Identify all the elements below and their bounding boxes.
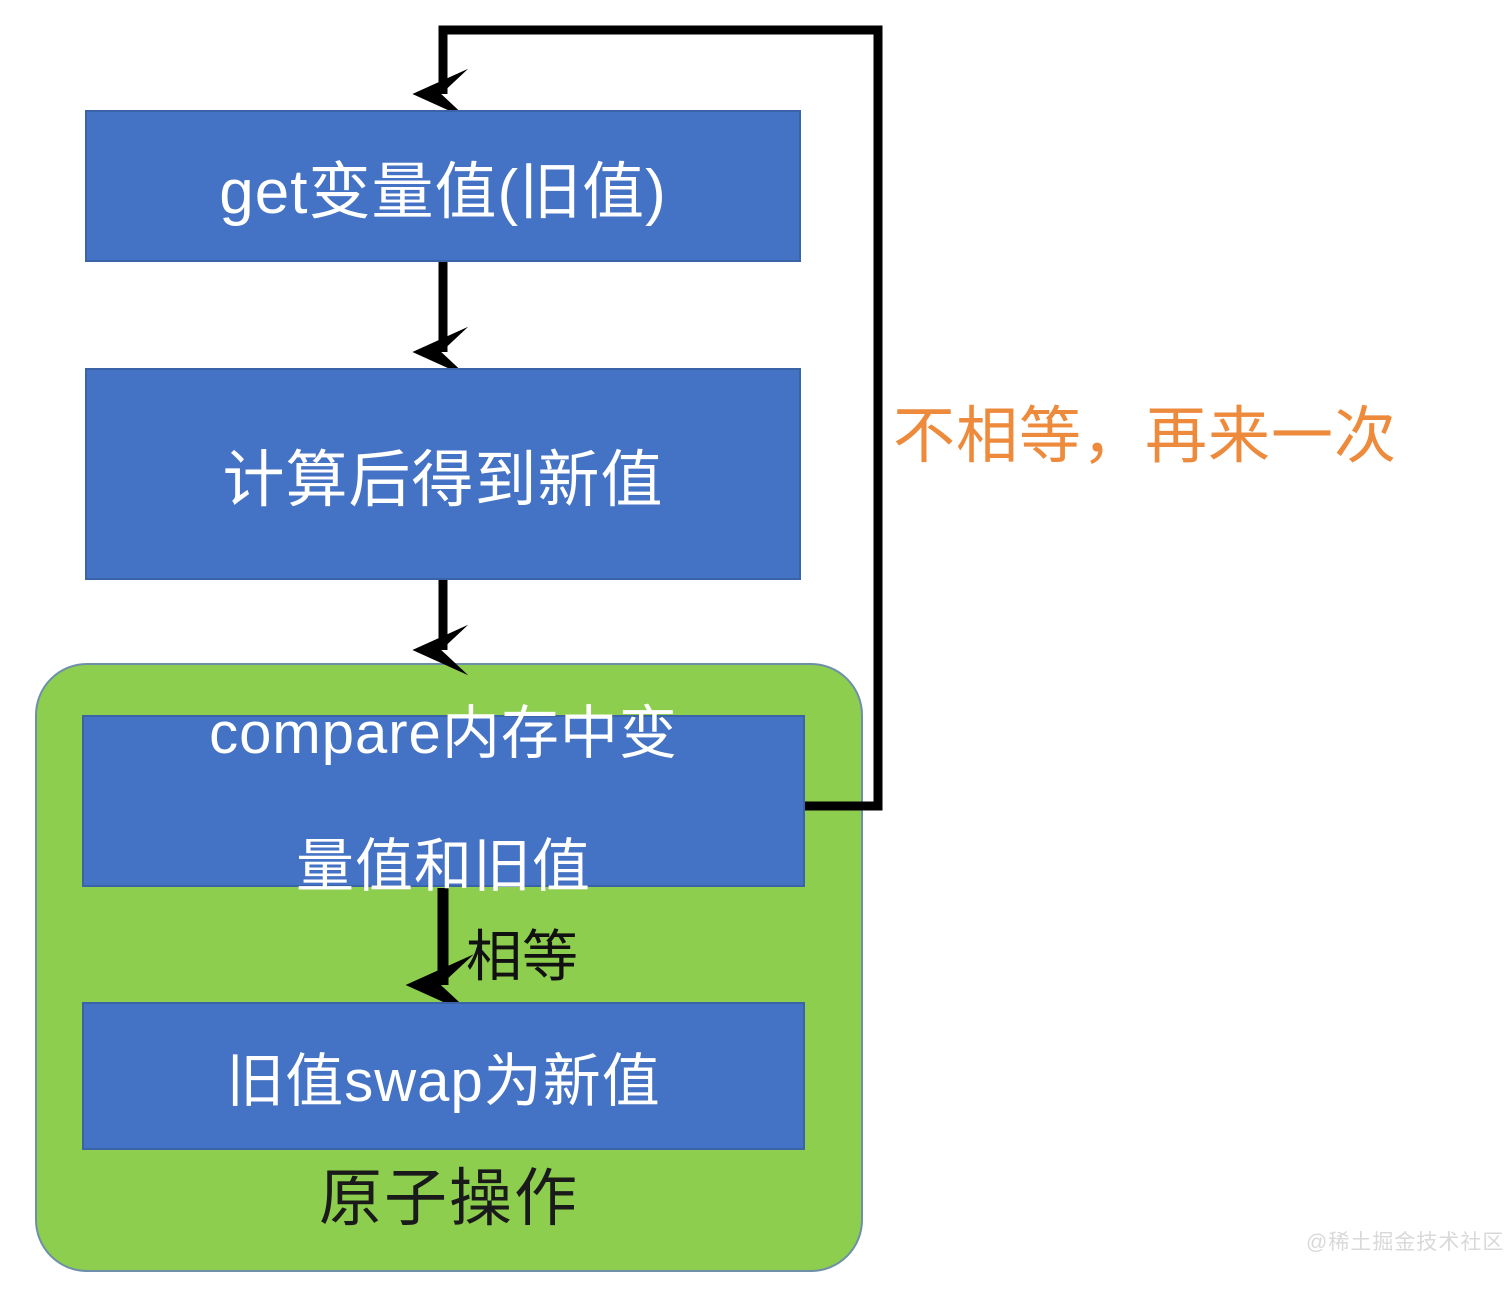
node-compare-line-2: 量值和旧值 <box>84 834 803 901</box>
node-compare-line-1: compare内存中变 <box>84 701 803 768</box>
node-compare-memory-and-old-label: compare内存中变 量值和旧值 <box>84 701 803 901</box>
diagram-canvas: get变量值(旧值) 计算后得到新值 compare内存中变 量值和旧值 旧值s… <box>0 0 1512 1291</box>
edge-label-retry: 不相等，再来一次 <box>893 385 1397 475</box>
edge-label-equal: 相等 <box>466 912 578 993</box>
node-get-old-value-label: get变量值(旧值) <box>87 141 799 231</box>
node-swap-old-to-new[interactable]: 旧值swap为新值 <box>82 1002 805 1150</box>
node-compute-new-value[interactable]: 计算后得到新值 <box>85 368 801 580</box>
node-get-old-value[interactable]: get变量值(旧值) <box>85 110 801 262</box>
node-compare-memory-and-old[interactable]: compare内存中变 量值和旧值 <box>82 715 805 887</box>
atomic-operation-label: 原子操作 <box>35 1165 863 1233</box>
node-swap-old-to-new-label: 旧值swap为新值 <box>84 1034 803 1118</box>
node-compute-new-value-label: 计算后得到新值 <box>87 429 799 519</box>
watermark: @稀土掘金技术社区 <box>1306 1226 1504 1256</box>
